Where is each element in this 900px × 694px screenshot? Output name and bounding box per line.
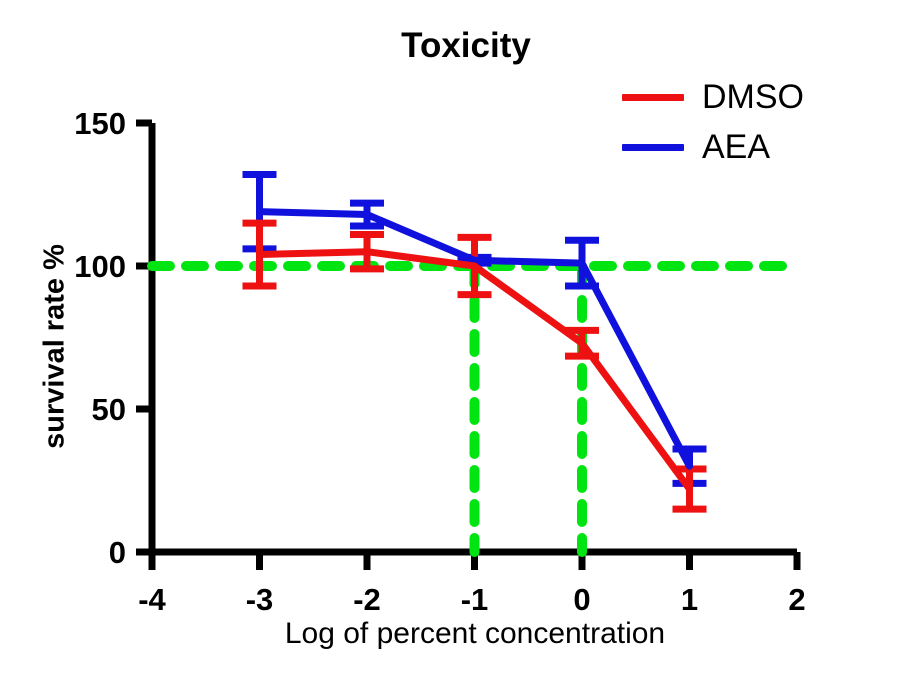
tick-labels: 050100150-4-3-2-1012 [74,106,805,617]
x-tick-label-0: -4 [138,582,166,617]
x-tick-label-2: -2 [353,582,381,617]
y-tick-label-3: 150 [74,106,126,141]
y-tick-label-0: 0 [109,535,126,570]
axes [136,123,797,570]
plot-area: 050100150-4-3-2-1012 [0,0,900,694]
y-tick-label-1: 50 [92,392,126,427]
x-tick-label-3: -1 [461,582,489,617]
x-tick-label-5: 1 [681,582,698,617]
x-tick-label-4: 0 [573,582,590,617]
x-tick-label-6: 2 [788,582,805,617]
toxicity-chart-figure: Toxicity DMSO AEA survival rate % Log of… [0,0,900,694]
x-tick-label-1: -3 [246,582,274,617]
y-tick-label-2: 100 [74,249,126,284]
